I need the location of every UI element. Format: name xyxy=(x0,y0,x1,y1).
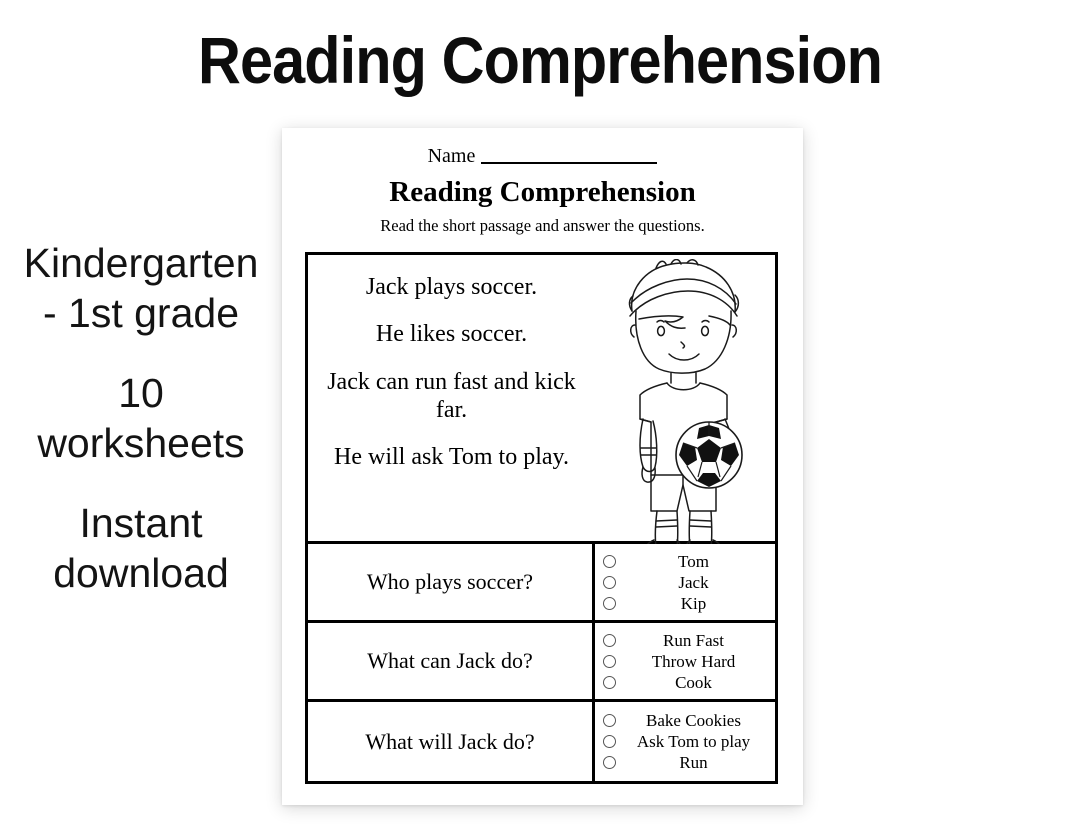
option-label: Ask Tom to play xyxy=(616,733,769,750)
soccer-ball-icon xyxy=(676,422,742,488)
promo-count-line-2: worksheets xyxy=(0,418,282,468)
question-prompt: What can Jack do? xyxy=(308,623,595,699)
radio-bubble-icon[interactable] xyxy=(603,555,616,568)
promo-grade-line-1: Kindergarten xyxy=(0,238,282,288)
question-options: Run Fast Throw Hard Cook xyxy=(595,623,775,699)
passage-line: He likes soccer. xyxy=(318,320,585,348)
promo-grade-line-2: - 1st grade xyxy=(0,288,282,338)
worksheet-page-preview: Name Reading Comprehension Read the shor… xyxy=(282,128,803,805)
option-row[interactable]: Bake Cookies xyxy=(603,710,769,731)
radio-bubble-icon[interactable] xyxy=(603,714,616,727)
option-label: Throw Hard xyxy=(616,653,769,670)
worksheet-title: Reading Comprehension xyxy=(282,176,803,209)
option-row[interactable]: Run Fast xyxy=(603,630,769,651)
radio-bubble-icon[interactable] xyxy=(603,597,616,610)
page-title: Reading Comprehension xyxy=(54,22,1026,98)
name-field-row: Name xyxy=(282,146,803,166)
promo-block-grade: Kindergarten - 1st grade xyxy=(0,238,282,338)
option-label: Tom xyxy=(616,553,769,570)
option-row[interactable]: Cook xyxy=(603,672,769,693)
option-row[interactable]: Run xyxy=(603,752,769,773)
radio-bubble-icon[interactable] xyxy=(603,756,616,769)
option-row[interactable]: Ask Tom to play xyxy=(603,731,769,752)
question-options: Bake Cookies Ask Tom to play Run xyxy=(595,702,775,781)
table-row: What will Jack do? Bake Cookies Ask Tom … xyxy=(308,702,775,781)
worksheet-table: Jack plays soccer. He likes soccer. Jack… xyxy=(305,252,778,784)
radio-bubble-icon[interactable] xyxy=(603,576,616,589)
question-prompt: Who plays soccer? xyxy=(308,544,595,620)
promo-block-count: 10 worksheets xyxy=(0,368,282,468)
promo-block-delivery: Instant download xyxy=(0,498,282,598)
option-label: Bake Cookies xyxy=(616,712,769,729)
promo-delivery-line-2: download xyxy=(0,548,282,598)
passage-section: Jack plays soccer. He likes soccer. Jack… xyxy=(308,255,775,544)
option-label: Kip xyxy=(616,595,769,612)
option-row[interactable]: Jack xyxy=(603,572,769,593)
question-options: Tom Jack Kip xyxy=(595,544,775,620)
name-label: Name xyxy=(428,146,476,166)
radio-bubble-icon[interactable] xyxy=(603,655,616,668)
table-row: Who plays soccer? Tom Jack Kip xyxy=(308,544,775,623)
worksheet-instructions: Read the short passage and answer the qu… xyxy=(282,216,803,236)
boy-with-soccer-ball-illustration xyxy=(595,255,775,541)
radio-bubble-icon[interactable] xyxy=(603,735,616,748)
option-row[interactable]: Kip xyxy=(603,593,769,614)
option-row[interactable]: Throw Hard xyxy=(603,651,769,672)
passage-text: Jack plays soccer. He likes soccer. Jack… xyxy=(308,255,595,541)
option-label: Cook xyxy=(616,674,769,691)
promo-details: Kindergarten - 1st grade 10 worksheets I… xyxy=(0,238,282,598)
radio-bubble-icon[interactable] xyxy=(603,676,616,689)
option-row[interactable]: Tom xyxy=(603,551,769,572)
option-label: Jack xyxy=(616,574,769,591)
name-write-in-line[interactable] xyxy=(481,162,657,164)
option-label: Run Fast xyxy=(616,632,769,649)
radio-bubble-icon[interactable] xyxy=(603,634,616,647)
table-row: What can Jack do? Run Fast Throw Hard Co… xyxy=(308,623,775,702)
option-label: Run xyxy=(616,754,769,771)
passage-line: Jack can run fast and kick far. xyxy=(318,368,585,425)
passage-line: Jack plays soccer. xyxy=(318,273,585,301)
promo-count-line-1: 10 xyxy=(0,368,282,418)
question-prompt: What will Jack do? xyxy=(308,702,595,781)
soccer-boy-icon xyxy=(599,259,771,544)
passage-line: He will ask Tom to play. xyxy=(318,443,585,471)
promo-delivery-line-1: Instant xyxy=(0,498,282,548)
